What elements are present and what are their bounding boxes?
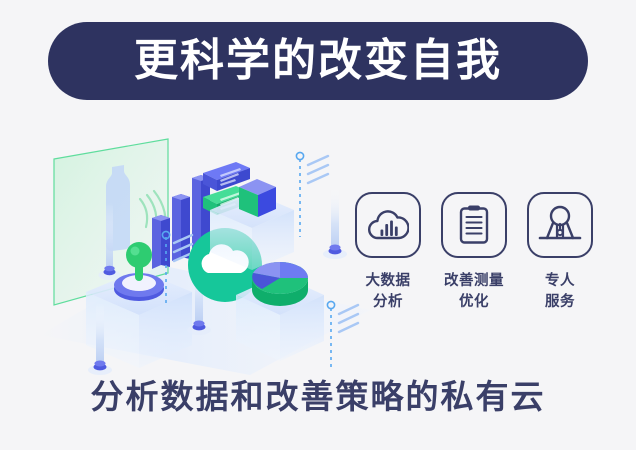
title-pill: 更科学的改变自我 [48,22,588,100]
isometric-illustration [40,125,370,375]
pie-chart-3d [252,262,308,306]
page-title: 更科学的改变自我 [134,39,502,83]
feature-item-big-data[interactable]: 大数据 分析 [352,192,424,332]
feature-item-measurement[interactable]: 改善测量 优化 [438,192,510,332]
feature-label: 改善测量 优化 [444,271,504,313]
feature-list: 大数据 分析 改善测量 优化 [352,192,596,332]
feature-label: 大数据 分析 [366,271,411,313]
promo-banner: 更科学的改变自我 [0,0,636,450]
footer-tagline: 分析数据和改善策略的私有云 [0,380,636,413]
cloud-bar-chart-icon [355,192,421,258]
feature-item-support[interactable]: 专人 服务 [524,192,596,332]
feature-label: 专人 服务 [545,271,575,313]
support-agent-icon [527,192,593,258]
clipboard-lines-icon [441,192,507,258]
dotted-guide-line [296,152,328,237]
gradient-pillar [323,187,347,259]
cube-3d [239,179,276,217]
